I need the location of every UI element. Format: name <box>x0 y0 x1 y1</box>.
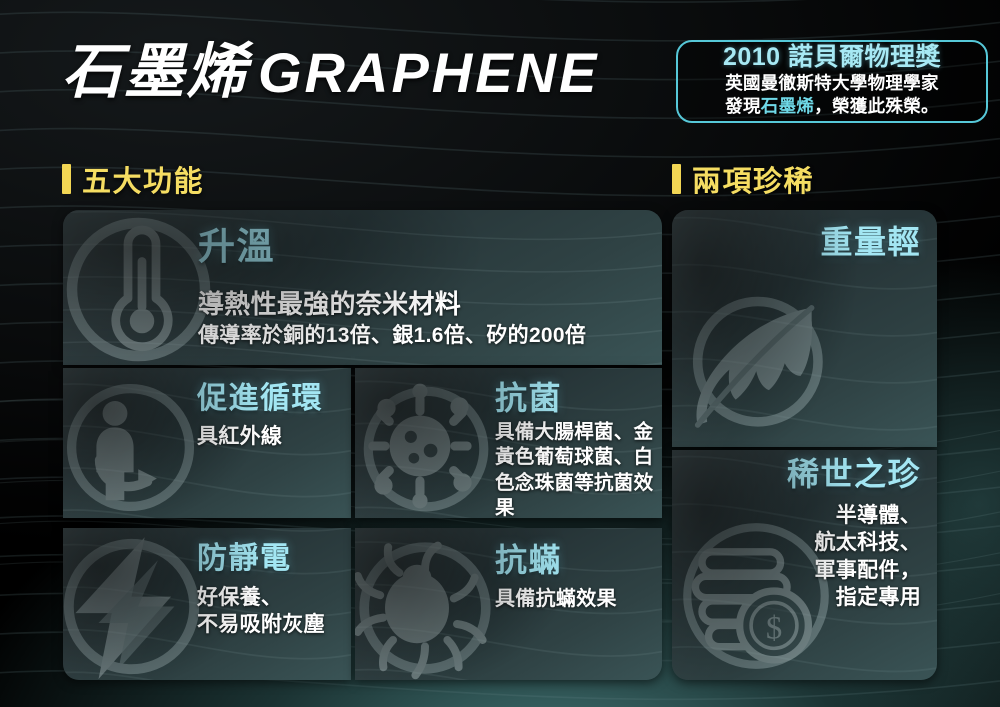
nobel-badge-title: 2010 諾貝爾物理獎 <box>723 44 941 71</box>
feature-card-heat-title: 升溫 <box>198 228 275 265</box>
feature-card-antibacterial-line1: 具備大腸桿菌、金黃色葡萄球菌、白色念珠菌等抗菌效果 <box>495 420 660 518</box>
rarity-card-precious-line1: 半導體、 航太科技、 軍事配件， 指定專用 <box>815 502 922 611</box>
nobel-badge-line2-post: ，榮獲此殊榮。 <box>814 96 939 116</box>
feature-card-circulation-title: 促進循環 <box>197 384 323 414</box>
feature-card-antimite-line1: 具備抗蟎效果 <box>495 586 617 612</box>
page-title-cn: 石墨烯 <box>62 38 248 105</box>
feature-card-antibacterial[interactable]: 抗菌 具備大腸桿菌、金黃色葡萄球菌、白色念珠菌等抗菌效果 <box>355 368 662 518</box>
rarity-card-lightweight-title: 重量輕 <box>820 226 921 258</box>
nobel-badge-line1: 英國曼徹斯特大學物理學家 <box>725 73 939 94</box>
section-bar-icon <box>62 164 71 194</box>
header: 石墨烯GRAPHENE 2010 諾貝爾物理獎 英國曼徹斯特大學物理學家 發現石… <box>0 0 1000 150</box>
section-heading-rarities-label: 兩項珍稀 <box>692 158 814 200</box>
rarity-card-precious-title: 稀世之珍 <box>787 458 921 490</box>
feature-card-heat-line2: 傳導率於銅的13倍、銀1.6倍、矽的200倍 <box>198 322 586 349</box>
nobel-prize-badge: 2010 諾貝爾物理獎 英國曼徹斯特大學物理學家 發現石墨烯，榮獲此殊榮。 <box>676 40 988 123</box>
page-title-en: GRAPHENE <box>258 41 599 104</box>
feature-card-antistatic[interactable]: 防靜電 好保養、 不易吸附灰塵 <box>63 528 351 680</box>
rarity-card-precious[interactable]: $ 稀世之珍 半導體、 航太科技、 軍事配件， 指定專用 <box>672 450 937 680</box>
feature-card-antistatic-title: 防靜電 <box>197 544 292 574</box>
feature-card-heat-line1: 導熱性最強的奈米材料 <box>198 288 461 322</box>
feature-card-antibacterial-title: 抗菌 <box>495 382 562 414</box>
feature-card-antistatic-line1: 好保養、 不易吸附灰塵 <box>197 584 325 639</box>
page-title: 石墨烯GRAPHENE <box>62 42 599 102</box>
nobel-badge-line2-pre: 發現 <box>725 96 761 116</box>
section-heading-rarities: 兩項珍稀 <box>672 158 814 200</box>
nobel-badge-line2-highlight: 石墨烯 <box>761 96 814 116</box>
section-heading-features: 五大功能 <box>62 158 204 200</box>
feature-card-antimite[interactable]: 抗蟎 具備抗蟎效果 <box>355 528 662 680</box>
nobel-badge-line2: 發現石墨烯，榮獲此殊榮。 <box>725 96 939 117</box>
section-bar-icon <box>672 164 681 194</box>
feature-card-heat[interactable]: 升溫 導熱性最強的奈米材料 傳導率於銅的13倍、銀1.6倍、矽的200倍 <box>63 210 662 365</box>
rarity-card-lightweight[interactable]: 重量輕 <box>672 210 937 447</box>
feature-card-antimite-title: 抗蟎 <box>495 544 562 576</box>
section-heading-features-label: 五大功能 <box>82 158 204 200</box>
feature-card-circulation[interactable]: 促進循環 具紅外線 <box>63 368 351 518</box>
feature-card-circulation-line1: 具紅外線 <box>197 423 282 450</box>
